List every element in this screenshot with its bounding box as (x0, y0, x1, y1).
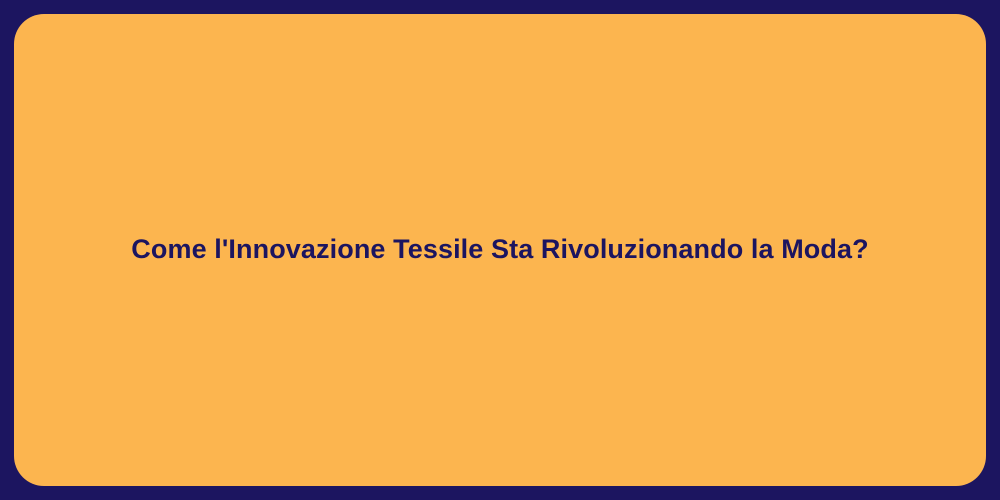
page-title: Come l'Innovazione Tessile Sta Rivoluzio… (91, 232, 908, 267)
outer-frame: Come l'Innovazione Tessile Sta Rivoluzio… (0, 0, 1000, 500)
headline-card: Come l'Innovazione Tessile Sta Rivoluzio… (14, 14, 986, 486)
